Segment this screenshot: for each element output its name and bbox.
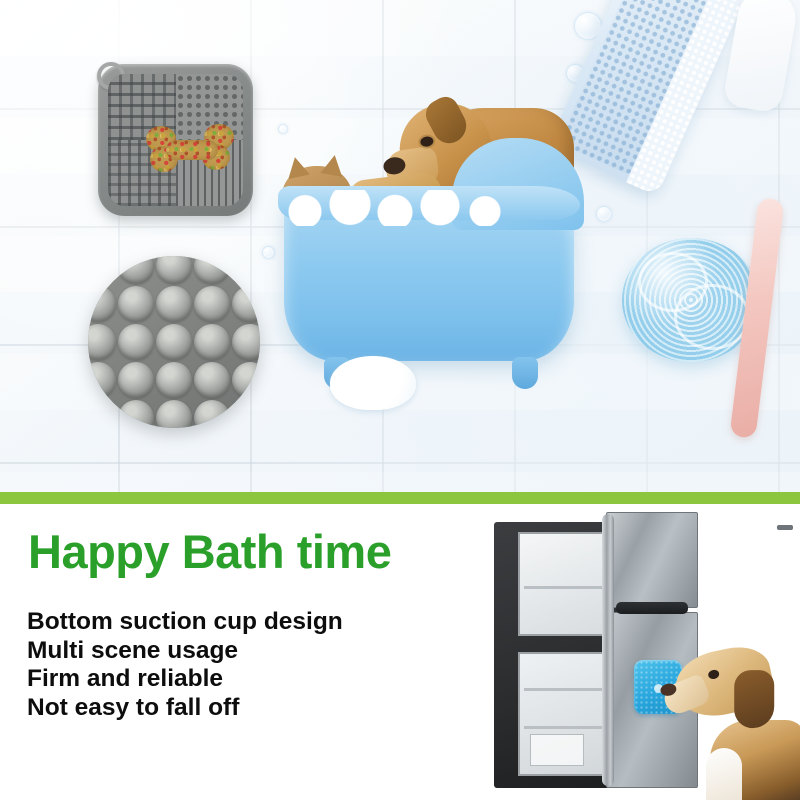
fridge-interior — [518, 652, 614, 776]
feature-item: Bottom suction cup design — [27, 608, 343, 637]
fridge-door-top[interactable] — [606, 512, 698, 608]
suction-cup — [232, 400, 260, 428]
feature-item: Multi scene usage — [27, 637, 343, 666]
suction-cup — [156, 362, 192, 398]
suction-cup — [118, 256, 154, 284]
suction-cup — [118, 286, 154, 322]
green-divider-bar — [0, 492, 800, 504]
page-title: Happy Bath time — [28, 528, 391, 575]
suction-cup — [88, 362, 116, 398]
lick-mat-gray — [98, 64, 253, 216]
suction-cup — [232, 256, 260, 284]
suction-cup — [194, 286, 230, 322]
product-banner: Happy Bath time Bottom suction cup desig… — [0, 0, 800, 800]
soap-bubble — [278, 124, 288, 134]
suction-cup — [118, 324, 154, 360]
feature-item: Firm and reliable — [27, 665, 343, 694]
soap-bubble — [596, 206, 612, 222]
suction-cup — [194, 400, 230, 428]
suction-cup — [118, 400, 154, 428]
loofah-pouf — [622, 238, 760, 362]
suction-cup — [194, 362, 230, 398]
loofah-ruffle — [674, 284, 750, 350]
bathtub-foot — [512, 357, 538, 389]
fridge-shelf — [524, 586, 608, 589]
fridge-handle-vertical[interactable] — [602, 514, 614, 786]
fridge-handle-horizontal[interactable] — [616, 602, 688, 614]
suction-cup — [156, 400, 192, 428]
dog-food-bone-shape — [146, 126, 234, 176]
suction-cup — [232, 286, 260, 322]
suction-cup — [88, 324, 116, 360]
suction-cup — [156, 324, 192, 360]
hero-bath-scene — [0, 0, 800, 492]
mat-texture-surface — [108, 74, 243, 206]
suction-cup — [194, 324, 230, 360]
mini-fridge — [494, 512, 699, 794]
feature-item: Not easy to fall off — [27, 694, 343, 723]
suction-cup-closeup — [88, 256, 260, 428]
fridge-freezer-interior — [518, 532, 614, 636]
soap-foam-band — [280, 190, 530, 226]
beagle-chest — [706, 748, 742, 800]
fridge-shelf — [524, 726, 608, 729]
suction-cup — [232, 324, 260, 360]
soap-bubble — [262, 246, 275, 259]
cat-ear — [320, 153, 345, 177]
suction-cup — [88, 256, 116, 284]
dog-eye — [420, 136, 434, 148]
beagle-ear — [734, 670, 774, 728]
suction-cup — [156, 256, 192, 284]
soap-foam-floor — [330, 356, 416, 410]
cat-ear — [284, 155, 310, 179]
suction-cup — [232, 362, 260, 398]
fridge-drawer — [530, 734, 584, 766]
suction-cup — [118, 362, 154, 398]
beagle-eye — [707, 669, 720, 680]
suction-cup-grid — [88, 256, 260, 428]
fridge-brand-logo-icon — [777, 525, 793, 530]
feature-list: Bottom suction cup design Multi scene us… — [27, 608, 343, 723]
suction-cup — [88, 400, 116, 428]
fridge-shelf — [524, 688, 608, 691]
beagle-head — [670, 641, 777, 724]
suction-cup — [194, 256, 230, 284]
feature-panel: Happy Bath time Bottom suction cup desig… — [0, 504, 800, 800]
beagle-dog — [676, 644, 800, 800]
suction-cup — [156, 286, 192, 322]
bathtub — [284, 196, 574, 361]
suction-cup — [88, 286, 116, 322]
